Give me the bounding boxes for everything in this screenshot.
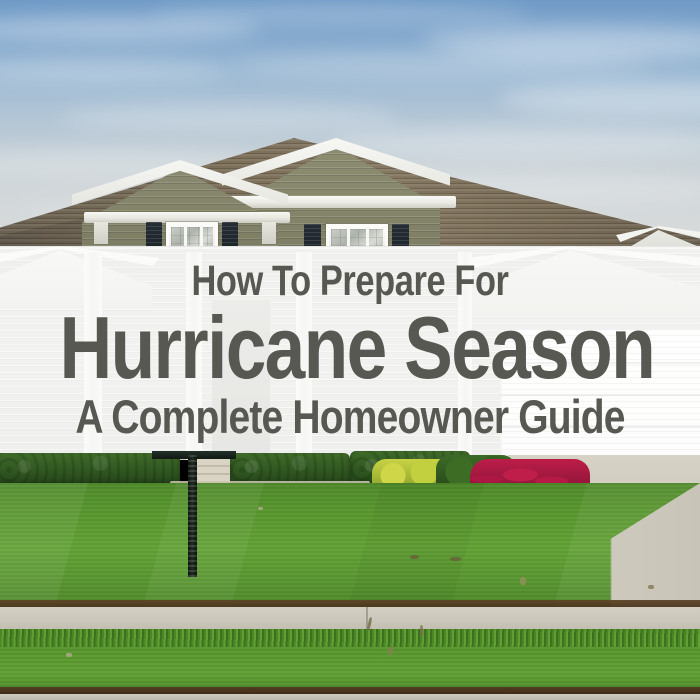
- center-gable-fascia: [216, 196, 456, 208]
- lawn-debris: [420, 625, 423, 637]
- lawn-debris: [66, 653, 72, 657]
- left-gable-return-right: [262, 222, 276, 244]
- lawn-debris: [410, 555, 419, 559]
- lawn-debris: [648, 585, 654, 589]
- yard: [0, 455, 700, 700]
- headline-block: How To Prepare For Hurricane Season A Co…: [0, 247, 700, 459]
- sign-post: [188, 455, 197, 577]
- hero-banner: How To Prepare For Hurricane Season A Co…: [0, 0, 700, 700]
- lawn-debris: [450, 557, 461, 561]
- left-gable-return: [94, 222, 108, 244]
- lawn-debris: [520, 577, 526, 585]
- grass-blades: [0, 629, 700, 647]
- sidewalk: [0, 607, 700, 631]
- headline-subtitle: A Complete Homeowner Guide: [60, 393, 641, 440]
- bottom-curb: [0, 694, 700, 700]
- lawn-debris: [258, 507, 263, 510]
- lawn-debris: [388, 647, 393, 655]
- headline-kicker: How To Prepare For: [70, 260, 630, 303]
- headline-main: Hurricane Season: [60, 304, 641, 392]
